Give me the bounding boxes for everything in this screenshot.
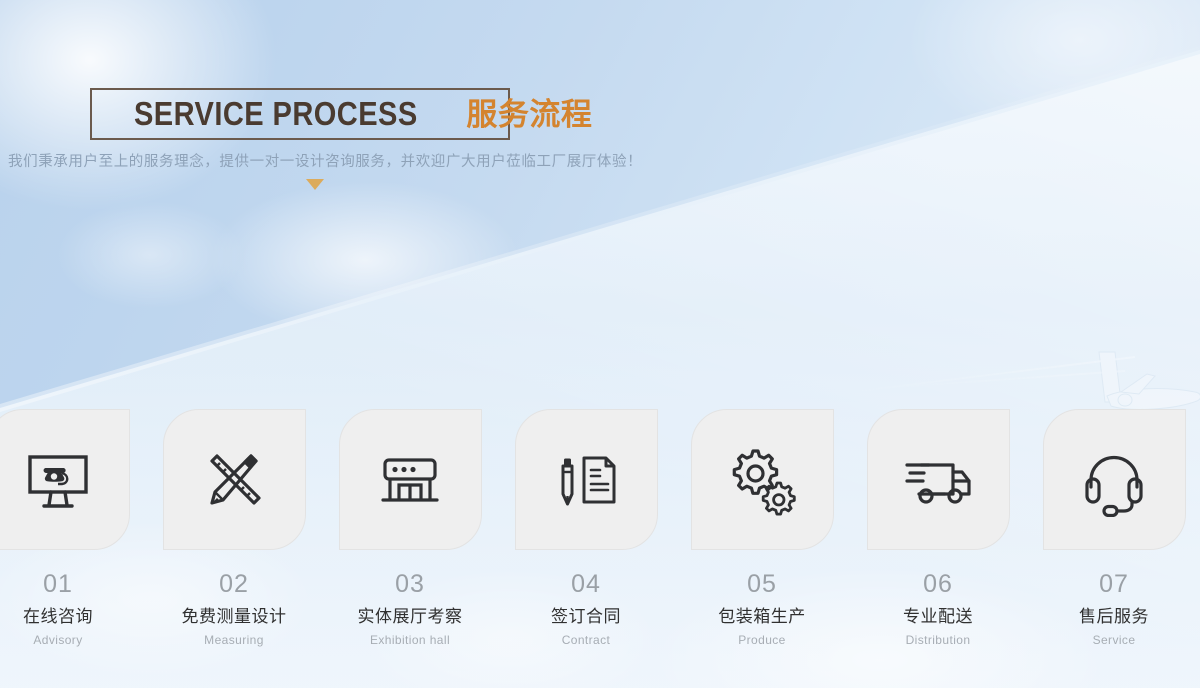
step-label-english: Distribution — [906, 634, 971, 646]
title-english: SERVICE PROCESS — [134, 97, 418, 130]
gears-icon — [724, 442, 800, 518]
step-label-chinese: 在线咨询 — [23, 608, 93, 625]
monitor-telephone-icon — [21, 443, 95, 517]
step-label-english: Exhibition hall — [370, 634, 450, 646]
step-label-english: Advisory — [33, 634, 82, 646]
section-header: SERVICE PROCESS服务流程 我们秉承用户至上的服务理念，提供一对一设… — [0, 88, 1200, 190]
delivery-truck-icon — [899, 441, 977, 519]
step-label-chinese: 签订合同 — [551, 608, 621, 625]
step-icon-card[interactable] — [163, 409, 306, 550]
page-title: SERVICE PROCESS服务流程 — [124, 97, 602, 130]
process-step[interactable]: 04 签订合同 Contract — [498, 409, 674, 646]
step-number: 05 — [747, 572, 777, 597]
step-label-chinese: 包装箱生产 — [718, 608, 806, 625]
step-icon-card[interactable] — [867, 409, 1010, 550]
step-icon-card[interactable] — [339, 409, 482, 550]
step-label-chinese: 售后服务 — [1079, 608, 1149, 625]
step-label-chinese: 实体展厅考察 — [358, 608, 463, 625]
process-step[interactable]: 01 在线咨询 Advisory — [0, 409, 146, 646]
step-number: 06 — [923, 572, 953, 597]
pen-document-icon — [550, 444, 622, 516]
step-number: 07 — [1099, 572, 1129, 597]
title-chinese: 服务流程 — [466, 97, 592, 132]
step-label-english: Produce — [738, 634, 786, 646]
section-subtitle: 我们秉承用户至上的服务理念，提供一对一设计咨询服务，并欢迎广大用户莅临工厂展厅体… — [8, 150, 1200, 171]
headset-icon — [1077, 443, 1151, 517]
step-icon-card[interactable] — [0, 409, 130, 550]
step-number: 03 — [395, 572, 425, 597]
step-number: 01 — [43, 572, 73, 597]
service-process-banner: SERVICE PROCESS服务流程 我们秉承用户至上的服务理念，提供一对一设… — [0, 0, 1200, 688]
chevron-down-triangle-icon — [306, 179, 324, 190]
process-step[interactable]: 07 售后服务 Service — [1026, 409, 1200, 646]
step-icon-card[interactable] — [1043, 409, 1186, 550]
step-label-english: Contract — [562, 634, 611, 646]
process-step[interactable]: 06 专业配送 Distribution — [850, 409, 1026, 646]
process-step[interactable]: 05 包装箱生产 Produce — [674, 409, 850, 646]
step-label-english: Service — [1093, 634, 1136, 646]
step-label-english: Measuring — [204, 634, 264, 646]
title-frame: SERVICE PROCESS服务流程 — [90, 88, 510, 140]
step-icon-card[interactable] — [691, 409, 834, 550]
step-number: 02 — [219, 572, 249, 597]
process-step[interactable]: 03 实体展厅考察 Exhibition hall — [322, 409, 498, 646]
process-steps-list: 01 在线咨询 Advisory 02 免费测量设计 Measuri — [0, 409, 1200, 646]
step-number: 04 — [571, 572, 601, 597]
ruler-pencil-icon — [199, 445, 269, 515]
step-icon-card[interactable] — [515, 409, 658, 550]
step-label-chinese: 专业配送 — [903, 608, 973, 625]
storefront-icon — [374, 444, 446, 516]
process-step[interactable]: 02 免费测量设计 Measuring — [146, 409, 322, 646]
step-label-chinese: 免费测量设计 — [182, 608, 287, 625]
